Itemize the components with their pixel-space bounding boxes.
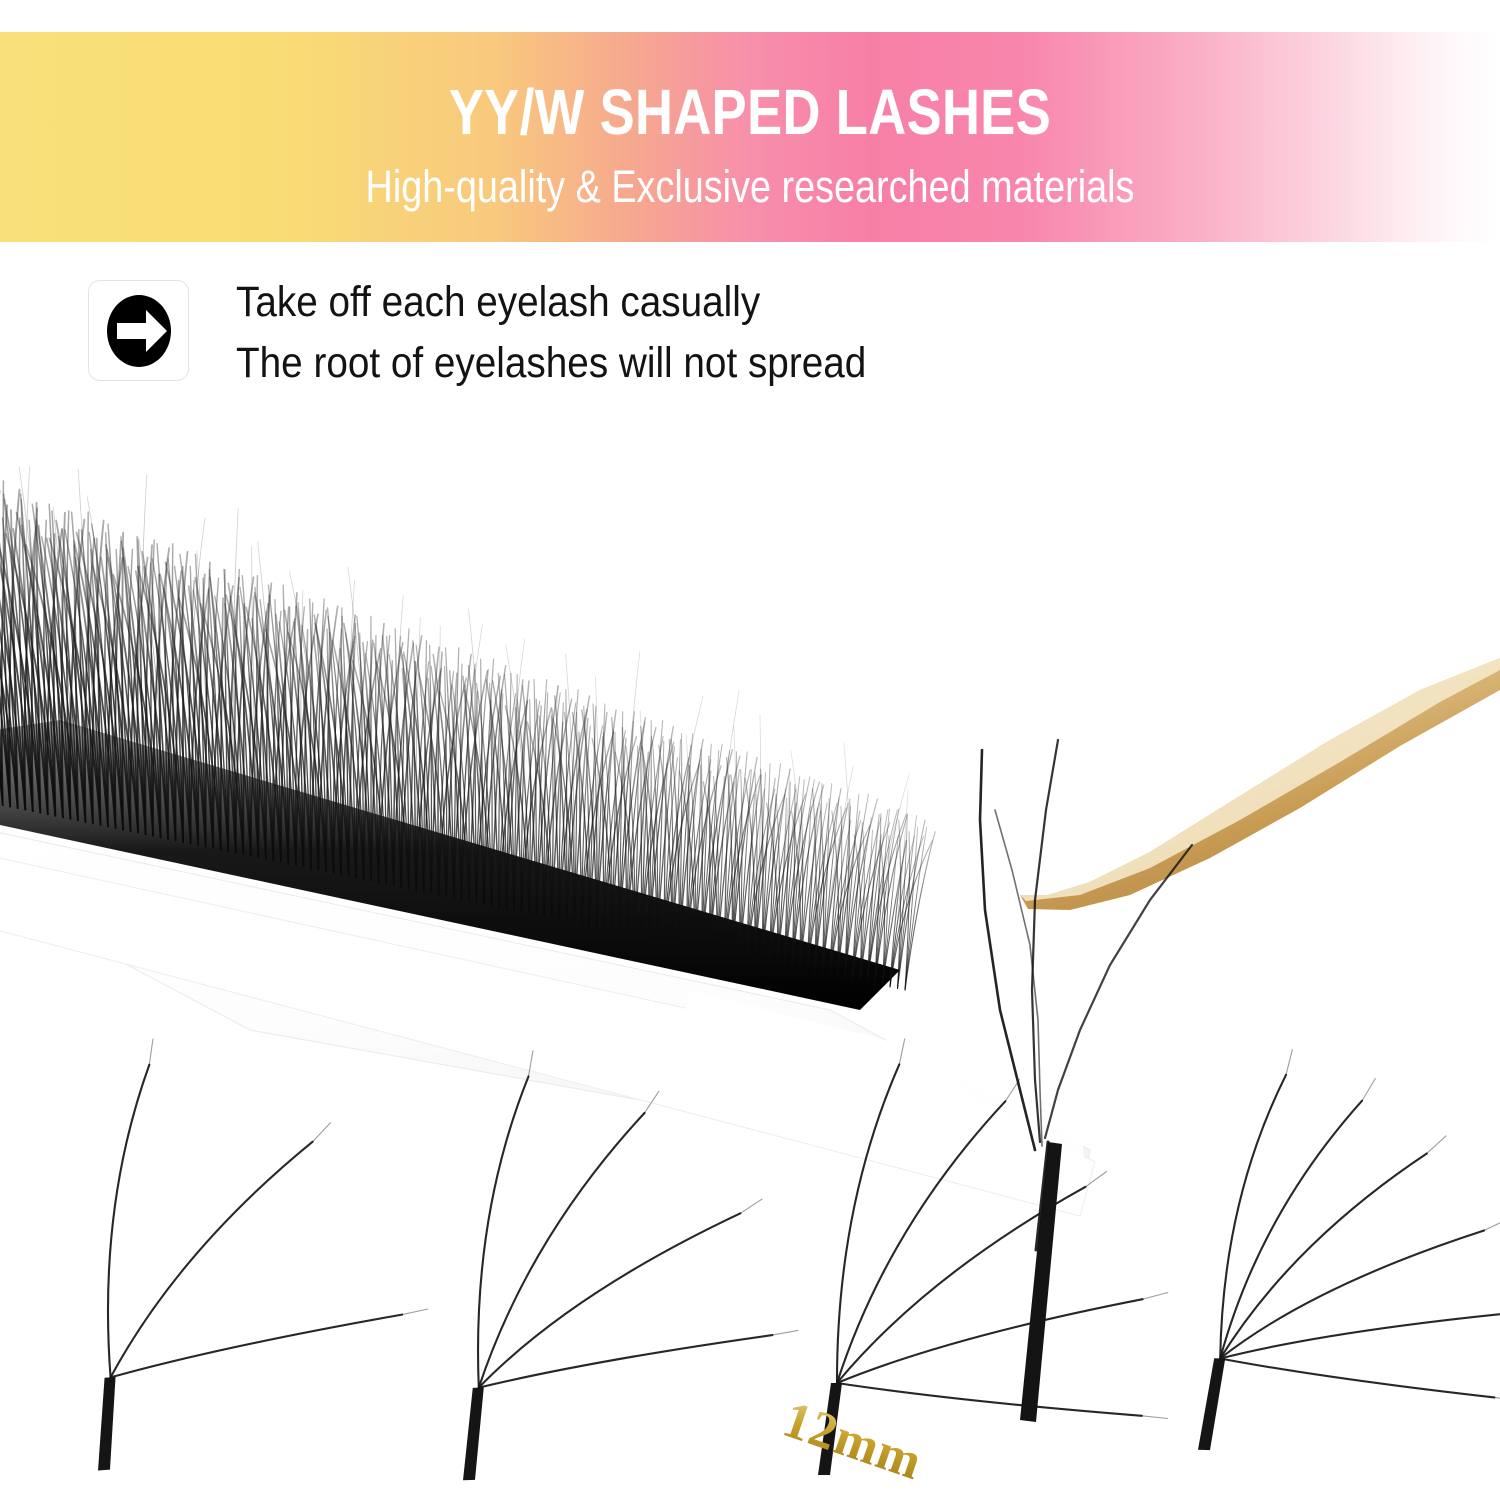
callout-line-2: The root of eyelashes will not spread — [236, 337, 866, 390]
callout-text-block: Take off each eyelash casually The root … — [236, 276, 936, 390]
callout-icon-box — [88, 280, 189, 381]
banner-title: YY/W SHAPED LASHES — [135, 80, 1365, 144]
banner-subtitle: High-quality & Exclusive researched mate… — [120, 164, 1380, 209]
product-photo: 12mm — [0, 390, 1500, 1500]
promo-banner: YY/W SHAPED LASHES High-quality & Exclus… — [0, 32, 1500, 242]
instruction-callout: Take off each eyelash casually The root … — [88, 280, 1288, 388]
callout-line-1: Take off each eyelash casually — [236, 276, 866, 329]
top-white-gutter — [0, 0, 1500, 32]
arrow-right-circle-icon — [101, 293, 177, 369]
product-illustration — [0, 390, 1500, 1500]
